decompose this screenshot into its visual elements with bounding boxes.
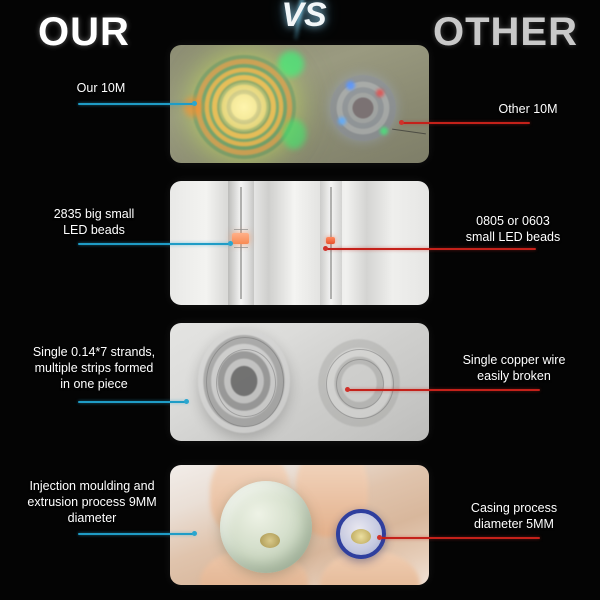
comparison-photo-wire: [170, 323, 429, 441]
other-led-bead-0805-icon: [326, 237, 335, 244]
vs-label: VS: [276, 0, 332, 32]
bead-lead-icon: [234, 229, 248, 230]
callout-dot-our-casing: [192, 531, 197, 536]
photo-casing-diameter: [170, 465, 429, 585]
our-heading: OUR: [38, 12, 130, 52]
callout-line-other-wire: [348, 389, 540, 391]
our-led-bead-2835-icon: [232, 233, 249, 244]
photo-wire-bundles: [170, 323, 429, 441]
other-heading: OTHER: [433, 12, 578, 52]
wire-strand-icon: [216, 349, 276, 417]
callout-label-other-casing: Casing process diameter 5MM: [442, 500, 586, 532]
bead-lead-icon: [234, 247, 248, 248]
callout-label-other-wire: Single copper wire easily broken: [440, 352, 588, 384]
wire-tail-icon: [392, 129, 426, 135]
callout-label-our-wire: Single 0.14*7 strands, multiple strips f…: [14, 344, 174, 392]
callout-line-our-casing: [78, 533, 196, 535]
callout-dot-our-wire: [184, 399, 189, 404]
callout-dot-other-wire: [345, 387, 350, 392]
callout-dot-our-length: [192, 101, 197, 106]
callout-line-our-length: [78, 103, 196, 105]
comparison-photo-casing: [170, 465, 429, 585]
photo-length-coils: [170, 45, 429, 163]
orange-glow-icon: [184, 97, 202, 117]
callout-label-our-length: Our 10M: [46, 80, 156, 96]
infographic-canvas: OUR OTHER VS Our 10M Other 10M: [0, 0, 600, 600]
callout-label-other-beads: 0805 or 0603 small LED beads: [440, 213, 586, 245]
comparison-photo-length: [170, 45, 429, 163]
callout-label-our-beads: 2835 big small LED beads: [24, 206, 164, 238]
other-cable-cross-section-icon: [336, 509, 386, 559]
callout-label-our-casing: Injection moulding and extrusion process…: [10, 478, 174, 526]
led-spark-icon: [380, 127, 388, 135]
callout-line-other-casing: [380, 537, 540, 539]
led-spark-icon: [346, 81, 355, 90]
callout-line-our-wire: [78, 401, 188, 403]
callout-dot-our-beads: [228, 241, 233, 246]
callout-line-other-beads: [326, 248, 536, 250]
callout-line-our-beads: [78, 243, 232, 245]
callout-label-other-length: Other 10M: [470, 101, 586, 117]
wire-strand-icon: [336, 359, 384, 409]
callout-dot-other-casing: [377, 535, 382, 540]
our-cable-cross-section-icon: [220, 481, 312, 573]
led-spark-icon: [376, 89, 384, 97]
callout-dot-other-length: [399, 120, 404, 125]
callout-dot-other-beads: [323, 246, 328, 251]
green-glow-icon: [282, 119, 306, 149]
led-spark-icon: [338, 117, 346, 125]
green-glow-icon: [278, 51, 304, 77]
callout-line-other-length: [402, 122, 530, 124]
